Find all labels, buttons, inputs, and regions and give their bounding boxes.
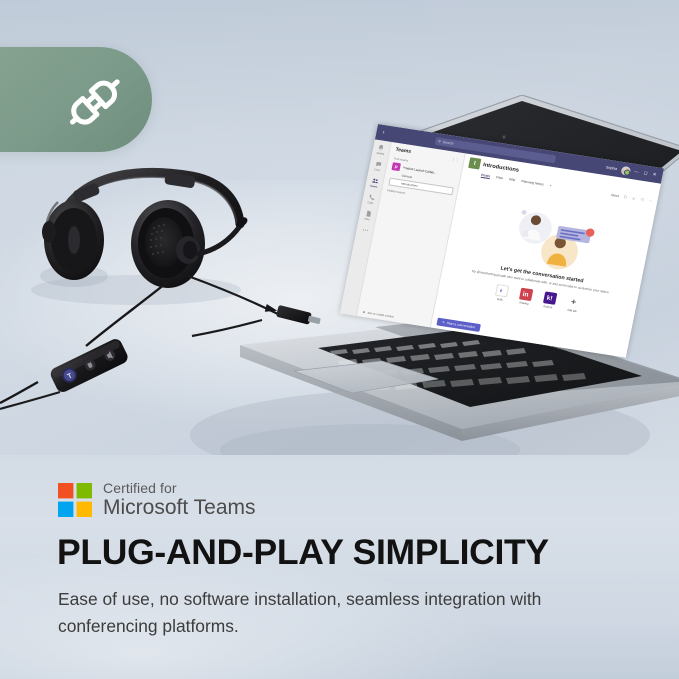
maximize-icon[interactable]: ◻ bbox=[643, 170, 648, 176]
certification-text: Certified for Microsoft Teams bbox=[103, 481, 256, 519]
chevron-left-icon[interactable]: ‹ bbox=[382, 130, 385, 136]
sidebar-item-files-label: Files bbox=[364, 218, 370, 222]
people-add-icon: ☸ bbox=[362, 310, 365, 314]
tab-posts[interactable]: Posts bbox=[481, 172, 491, 179]
sidebar-item-chat-label: Chat bbox=[374, 168, 380, 172]
start-conversation-label: Start a conversation bbox=[446, 321, 475, 329]
microsoft-teams-label: Microsoft Teams bbox=[103, 497, 256, 519]
channel-title: Introductions bbox=[483, 162, 520, 173]
microsoft-logo bbox=[58, 483, 92, 517]
app-kahoot[interactable]: k! Kahoot bbox=[540, 291, 559, 309]
bell-icon bbox=[377, 144, 385, 152]
empty-state: Let's get the conversation started Try @… bbox=[443, 195, 648, 321]
close-icon[interactable]: ✕ bbox=[652, 172, 657, 178]
ellipsis-icon bbox=[361, 226, 369, 234]
window-controls[interactable]: — ◻ ✕ bbox=[634, 169, 657, 178]
sidebar-item-chat[interactable]: Chat bbox=[373, 160, 382, 172]
two-people-chatting-illustration bbox=[493, 202, 605, 277]
plus-icon: + bbox=[566, 295, 580, 308]
channel-content: I Introductions Posts Files Wiki Plannin… bbox=[431, 154, 661, 358]
user-name: Sophia bbox=[606, 165, 618, 171]
filter-icon[interactable]: ⋮⋮ bbox=[451, 156, 460, 162]
team-avatar: P bbox=[391, 162, 401, 171]
headset-cable-assembly: T bbox=[0, 270, 360, 440]
minimize-icon[interactable]: — bbox=[634, 169, 640, 176]
sidebar-item-calls-label: Calls bbox=[367, 201, 373, 205]
info-icon[interactable]: ⓘ bbox=[640, 197, 644, 202]
sharing-icon: in bbox=[518, 288, 532, 301]
channel-avatar: I bbox=[468, 157, 481, 169]
chat-icon bbox=[374, 160, 382, 168]
join-or-create-team-label: Join or create a team bbox=[367, 311, 394, 319]
phone-icon bbox=[367, 193, 375, 201]
polls-icon: ◐ bbox=[494, 284, 508, 297]
team-icon[interactable]: ☺ bbox=[632, 196, 636, 200]
files-icon bbox=[364, 210, 372, 218]
more-icon[interactable]: ⋯ bbox=[648, 198, 652, 202]
app-add-tab-label: Add tab bbox=[564, 308, 581, 313]
app-add-tab[interactable]: + Add tab bbox=[564, 295, 583, 313]
tab-planning-notes[interactable]: Planning Notes bbox=[521, 179, 544, 188]
app-kahoot-label: Kahoot bbox=[540, 304, 557, 309]
search-icon: ⚲ bbox=[438, 139, 441, 143]
sidebar-item-files[interactable]: Files bbox=[363, 210, 372, 222]
feature-badge bbox=[0, 47, 152, 152]
join-or-create-team-button[interactable]: ☸ Join or create a team bbox=[362, 310, 394, 319]
app-sharing[interactable]: in Sharing bbox=[516, 288, 535, 306]
page-subtitle: Ease of use, no software installation, s… bbox=[58, 586, 618, 640]
certified-for-label: Certified for bbox=[103, 481, 256, 496]
tab-files[interactable]: Files bbox=[496, 175, 504, 181]
kahoot-icon: k! bbox=[542, 292, 556, 305]
video-call-icon[interactable]: ☐ bbox=[624, 195, 628, 199]
certification-badge: Certified for Microsoft Teams bbox=[58, 481, 256, 519]
meet-label[interactable]: Meet bbox=[611, 193, 619, 198]
tab-wiki[interactable]: Wiki bbox=[509, 177, 516, 183]
sidebar-item-teams-label: Teams bbox=[370, 185, 378, 189]
teams-panel-title: Teams bbox=[395, 147, 412, 155]
sidebar-item-calls[interactable]: Calls bbox=[367, 193, 376, 205]
product-marketing-image: MacBook Pro ‹ ⚲ Search Sophia — ◻ ✕ bbox=[0, 0, 679, 679]
app-polls[interactable]: ◐ Polls bbox=[492, 284, 511, 302]
sidebar-item-more[interactable] bbox=[361, 226, 369, 234]
sidebar-item-teams[interactable]: Teams bbox=[370, 177, 380, 189]
avatar[interactable] bbox=[620, 165, 631, 175]
people-icon bbox=[371, 177, 379, 185]
plug-connector-icon bbox=[66, 69, 128, 131]
sidebar-item-activity[interactable]: Activity bbox=[376, 144, 386, 156]
page-title: PLUG-AND-PLAY SIMPLICITY bbox=[57, 532, 549, 573]
pencil-icon: ✎ bbox=[442, 320, 445, 324]
tab-add[interactable]: + bbox=[549, 183, 552, 189]
app-polls-label: Polls bbox=[492, 297, 509, 302]
sidebar-item-activity-label: Activity bbox=[376, 152, 384, 156]
app-sharing-label: Sharing bbox=[516, 301, 533, 306]
search-placeholder: Search bbox=[442, 140, 454, 146]
